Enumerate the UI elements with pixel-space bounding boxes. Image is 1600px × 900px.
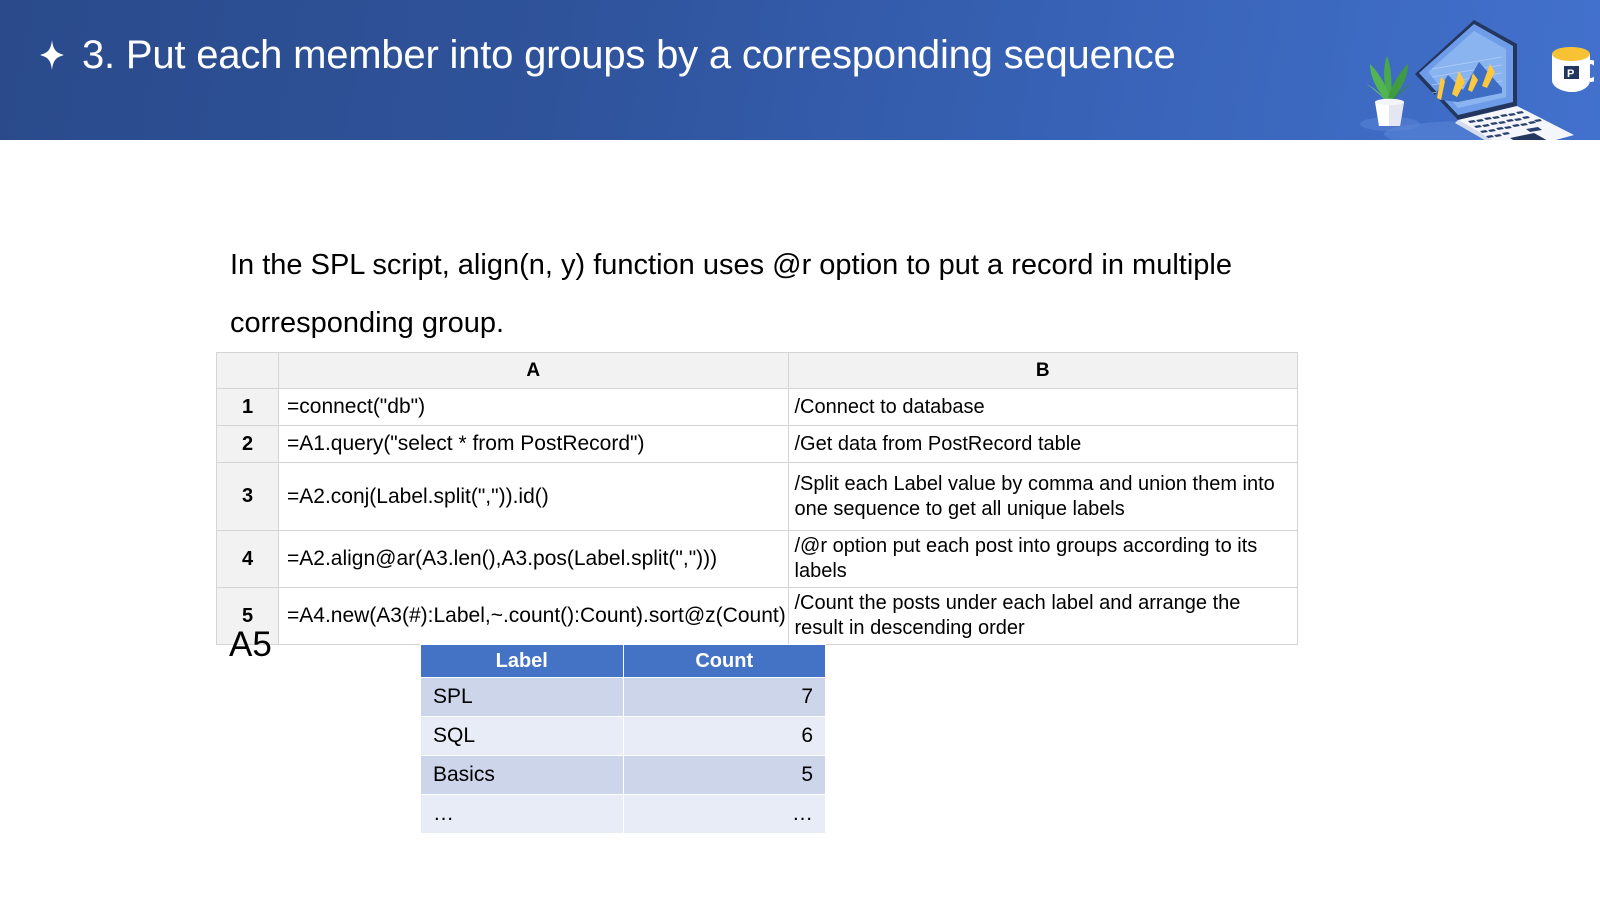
column-header-a: A (279, 353, 789, 389)
result-label: SQL (421, 717, 624, 756)
cell-a5[interactable]: =A4.new(A3(#):Label,~.count():Count).sor… (279, 588, 789, 645)
result-row: … … (421, 795, 826, 834)
result-count: … (623, 795, 826, 834)
result-label: SPL (421, 678, 624, 717)
table-row: 3 =A2.conj(Label.split(",")).id() /Split… (217, 463, 1298, 531)
cell-b5[interactable]: /Count the posts under each label and ar… (788, 588, 1298, 645)
result-table: Label Count SPL 7 SQL 6 Basics 5 … … (420, 644, 826, 834)
result-count: 6 (623, 717, 826, 756)
result-row: Basics 5 (421, 756, 826, 795)
result-label: Basics (421, 756, 624, 795)
cell-a1[interactable]: =connect("db") (279, 389, 789, 426)
cell-b1[interactable]: /Connect to database (788, 389, 1298, 426)
cell-b4[interactable]: /@r option put each post into groups acc… (788, 531, 1298, 588)
coffee-mug-icon: P (1552, 47, 1594, 92)
table-header-row: A B (217, 353, 1298, 389)
column-header-b: B (788, 353, 1298, 389)
row-number: 4 (217, 531, 279, 588)
result-column-header-label: Label (421, 645, 624, 678)
spl-code-table: A B 1 =connect("db") /Connect to databas… (216, 352, 1298, 645)
sparkle-icon (38, 38, 66, 72)
result-header-row: Label Count (421, 645, 826, 678)
result-label: … (421, 795, 624, 834)
svg-text:P: P (1567, 68, 1574, 80)
table-row: 2 =A1.query("select * from PostRecord") … (217, 426, 1298, 463)
cell-b2[interactable]: /Get data from PostRecord table (788, 426, 1298, 463)
cell-a4[interactable]: =A2.align@ar(A3.len(),A3.pos(Label.split… (279, 531, 789, 588)
cell-a3[interactable]: =A2.conj(Label.split(",")).id() (279, 463, 789, 531)
corner-cell (217, 353, 279, 389)
page-title: 3. Put each member into groups by a corr… (82, 33, 1176, 77)
result-count: 5 (623, 756, 826, 795)
row-number: 1 (217, 389, 279, 426)
laptop-illustration: P (1342, 2, 1594, 140)
result-row: SPL 7 (421, 678, 826, 717)
title-row: 3. Put each member into groups by a corr… (38, 33, 1176, 77)
plant-icon (1366, 56, 1412, 126)
table-row: 4 =A2.align@ar(A3.len(),A3.pos(Label.spl… (217, 531, 1298, 588)
cell-reference-label: A5 (229, 627, 272, 662)
row-number: 2 (217, 426, 279, 463)
slide-header-band: 3. Put each member into groups by a corr… (0, 0, 1600, 140)
intro-paragraph: In the SPL script, align(n, y) function … (230, 236, 1320, 352)
cell-a2[interactable]: =A1.query("select * from PostRecord") (279, 426, 789, 463)
laptop-screen (1415, 20, 1517, 120)
cell-b3[interactable]: /Split each Label value by comma and uni… (788, 463, 1298, 531)
result-column-header-count: Count (623, 645, 826, 678)
result-count: 7 (623, 678, 826, 717)
result-row: SQL 6 (421, 717, 826, 756)
table-row: 1 =connect("db") /Connect to database (217, 389, 1298, 426)
row-number: 3 (217, 463, 279, 531)
table-row: 5 =A4.new(A3(#):Label,~.count():Count).s… (217, 588, 1298, 645)
